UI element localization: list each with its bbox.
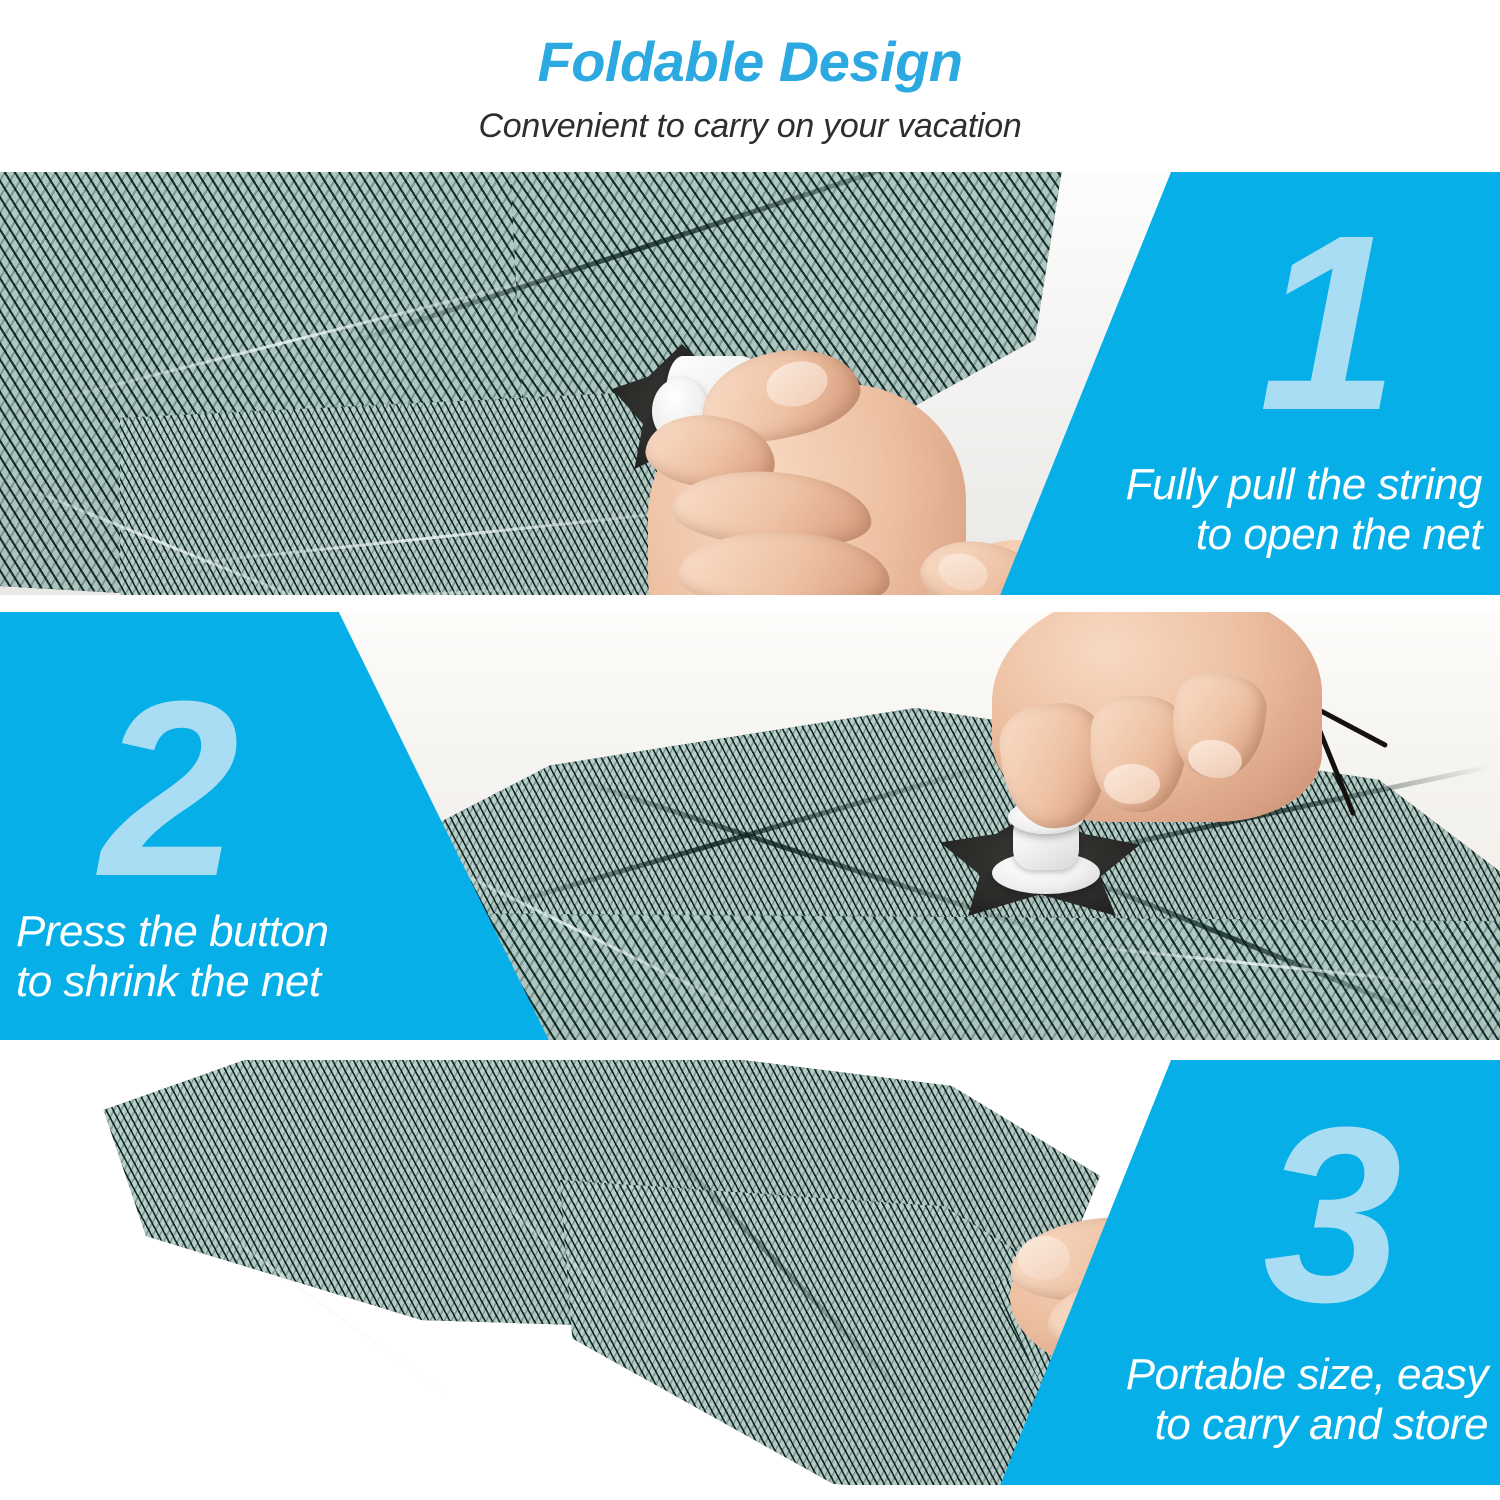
fingernail	[1104, 764, 1160, 804]
step-panel-3: 3 Portable size, easy to carry and store	[0, 1060, 1500, 1485]
page-title: Foldable Design	[0, 34, 1500, 90]
step-2-caption: Press the button to shrink the net	[16, 907, 466, 1006]
page-subtitle: Convenient to carry on your vacation	[0, 108, 1500, 145]
step-3-number: 3	[1263, 1090, 1396, 1340]
step-2-caption-line-2: to shrink the net	[16, 957, 321, 1006]
step-1-caption: Fully pull the string to open the net	[1012, 460, 1482, 559]
step-panel-1: 1 Fully pull the string to open the net	[0, 172, 1500, 595]
fingernail	[1018, 1236, 1070, 1280]
step-2-number: 2	[100, 664, 233, 914]
infographic-page: Foldable Design Convenient to carry on y…	[0, 0, 1500, 1500]
step-3-caption-line-2: to carry and store	[1155, 1400, 1488, 1449]
header: Foldable Design Convenient to carry on y…	[0, 0, 1500, 172]
step-3-caption: Portable size, easy to carry and store	[998, 1350, 1488, 1449]
step-1-caption-line-2: to open the net	[1196, 510, 1482, 559]
step-2-caption-line-1: Press the button	[16, 907, 328, 956]
step-1-number: 1	[1259, 198, 1392, 448]
step-1-caption-line-1: Fully pull the string	[1126, 460, 1482, 509]
panel-separator	[0, 595, 1500, 612]
bottom-margin	[0, 1485, 1500, 1500]
panel-separator	[0, 1040, 1500, 1060]
step-panel-2: 2 Press the button to shrink the net	[0, 612, 1500, 1040]
step-3-caption-line-1: Portable size, easy	[1126, 1350, 1488, 1399]
